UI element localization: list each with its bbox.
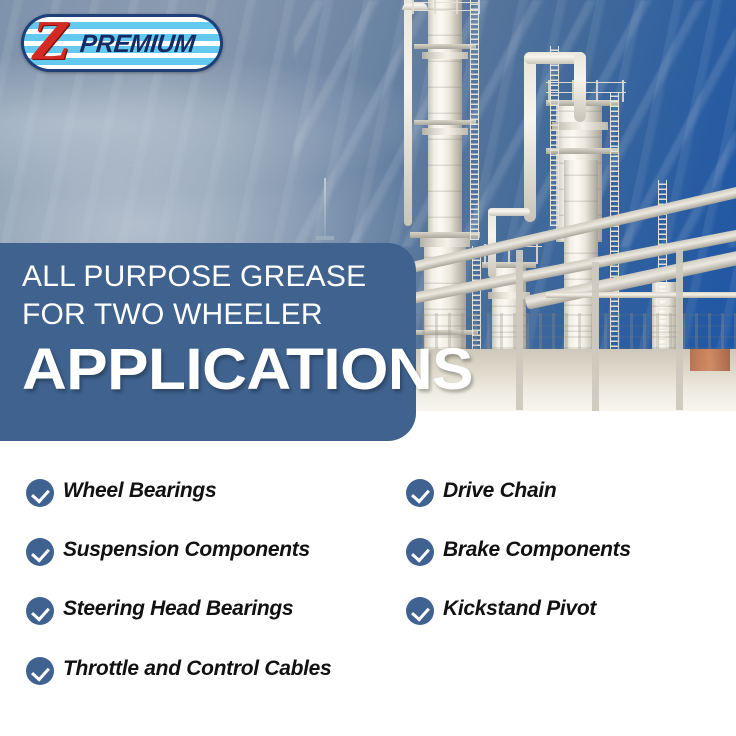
ladder-icon [550,46,559,226]
check-circle-icon [26,538,54,566]
column-band [552,122,608,130]
list-item: Suspension Components [26,537,310,566]
rail-post [412,0,414,14]
handrail [410,10,480,11]
logo-wordmark: PREMIUM [79,32,196,57]
rail-post [434,0,436,14]
antenna-mast-icon [324,178,326,238]
check-circle-icon [406,479,434,507]
platform-deck [414,120,476,125]
list-item: Throttle and Control Cables [26,656,331,685]
list-item-label: Drive Chain [443,478,556,504]
horizontal-pipe [546,292,736,298]
check-circle-icon [26,597,54,625]
promo-poster: Z PREMIUM ALL PURPOSE GREASE FOR TWO WHE… [0,0,736,736]
column-band [422,52,468,59]
swan-neck-pipe-right [574,52,586,122]
swan-neck-pipe-down [524,52,536,222]
list-item-label: Suspension Components [63,537,310,563]
rail-post [622,80,624,102]
list-item-label: Kickstand Pivot [443,596,596,622]
rail-post [456,0,458,14]
column-band [420,238,470,247]
banner-subtitle-line2: FOR TWO WHEELER [22,300,323,330]
check-circle-icon [26,479,54,507]
vertical-pipe [404,0,412,226]
check-circle-icon [406,597,434,625]
support-column [676,250,683,410]
list-item: Brake Components [406,537,631,566]
check-circle-icon [406,538,434,566]
ladder-icon [470,0,479,240]
check-circle-icon [26,657,54,685]
column-band [422,128,468,135]
applications-list: Wheel Bearings Suspension Components Ste… [0,462,736,736]
list-item-label: Brake Components [443,537,631,563]
support-column [592,262,599,411]
pipe-run [488,208,530,216]
logo-z-mark: Z [31,17,70,69]
list-item-label: Wheel Bearings [63,478,216,504]
handrail [410,2,480,3]
rail-post [536,244,538,264]
z-premium-logo[interactable]: Z PREMIUM [21,14,223,72]
rail-post [478,0,480,14]
column-band [488,292,530,299]
list-item-label: Steering Head Bearings [63,596,293,622]
rust-structure [690,349,730,371]
banner-headline: APPLICATIONS [22,341,473,399]
support-column [516,250,523,410]
rail-post [596,80,598,102]
platform-deck [414,44,476,49]
list-item: Steering Head Bearings [26,596,293,625]
list-item: Wheel Bearings [26,478,216,507]
logo-stripes: Z PREMIUM [24,17,220,69]
pipe-elbow [402,2,428,10]
list-item: Drive Chain [406,478,556,507]
antenna-base [316,236,334,240]
list-item-label: Throttle and Control Cables [63,656,331,682]
list-item: Kickstand Pivot [406,596,596,625]
banner-subtitle-line1: ALL PURPOSE GREASE [22,262,366,292]
